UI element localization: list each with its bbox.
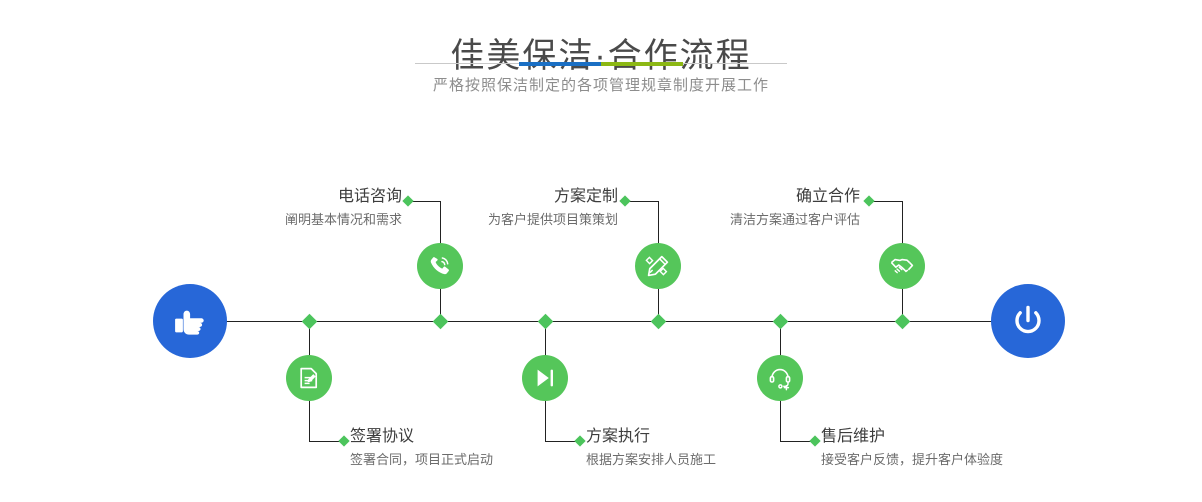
timeline-end-endpoint (991, 284, 1065, 358)
step-desc-4: 根据方案安排人员施工 (586, 450, 806, 470)
step-title-5: 确立合作 (655, 186, 860, 208)
connector-tip-5 (863, 195, 874, 206)
step-node-6[interactable] (757, 355, 803, 401)
connector-horizontal-5 (871, 201, 903, 202)
timeline-start-endpoint (153, 284, 227, 358)
title-divider (415, 62, 787, 66)
header: 佳美保洁·合作流程 (0, 34, 1202, 78)
step-node-4[interactable] (522, 355, 568, 401)
connector-tip-3 (619, 195, 630, 206)
timeline-marker-4 (538, 314, 554, 330)
page-title: 佳美保洁·合作流程 (0, 34, 1202, 78)
step-label-3: 方案定制 为客户提供项目策策划 (410, 186, 618, 230)
pencil-ruler-icon (645, 253, 671, 279)
step-label-4: 方案执行 根据方案安排人员施工 (586, 426, 806, 470)
step-desc-5: 清洁方案通过客户评估 (655, 210, 860, 230)
step-desc-1: 阐明基本情况和需求 (190, 210, 402, 230)
step-desc-2: 签署合同，项目正式启动 (350, 450, 580, 470)
timeline-marker-2 (302, 314, 318, 330)
page-subtitle: 严格按照保洁制定的各项管理规章制度开展工作 (0, 74, 1202, 95)
step-node-2[interactable] (286, 355, 332, 401)
step-label-2: 签署协议 签署合同，项目正式启动 (350, 426, 580, 470)
step-label-1: 电话咨询 阐明基本情况和需求 (190, 186, 402, 230)
step-node-5[interactable] (879, 243, 925, 289)
step-title-2: 签署协议 (350, 426, 580, 448)
connector-tip-2 (338, 435, 349, 446)
phone-call-icon (427, 253, 453, 279)
divider-segment-blue (519, 62, 601, 66)
connector-tip-6 (809, 435, 820, 446)
timeline-marker-5 (895, 314, 911, 330)
timeline-marker-1 (433, 314, 449, 330)
step-node-1[interactable] (417, 243, 463, 289)
divider-segment-green (601, 62, 683, 66)
timeline-marker-6 (773, 314, 789, 330)
step-title-4: 方案执行 (586, 426, 806, 448)
customer-service-icon (767, 365, 793, 391)
power-icon (1007, 300, 1049, 342)
step-title-3: 方案定制 (410, 186, 618, 208)
step-node-3[interactable] (635, 243, 681, 289)
step-title-1: 电话咨询 (190, 186, 402, 208)
hand-pointing-icon (170, 301, 210, 341)
play-execute-icon (532, 365, 558, 391)
timeline-marker-3 (651, 314, 667, 330)
step-label-5: 确立合作 清洁方案通过客户评估 (655, 186, 860, 230)
connector-horizontal-2 (309, 441, 341, 442)
document-edit-icon (296, 365, 322, 391)
step-desc-3: 为客户提供项目策策划 (410, 210, 618, 230)
handshake-icon (889, 253, 915, 279)
step-desc-6: 接受客户反馈，提升客户体验度 (821, 450, 1071, 470)
step-title-6: 售后维护 (821, 426, 1071, 448)
process-flow-infographic: 佳美保洁·合作流程 严格按照保洁制定的各项管理规章制度开展工作 (0, 0, 1202, 502)
step-label-6: 售后维护 接受客户反馈，提升客户体验度 (821, 426, 1071, 470)
